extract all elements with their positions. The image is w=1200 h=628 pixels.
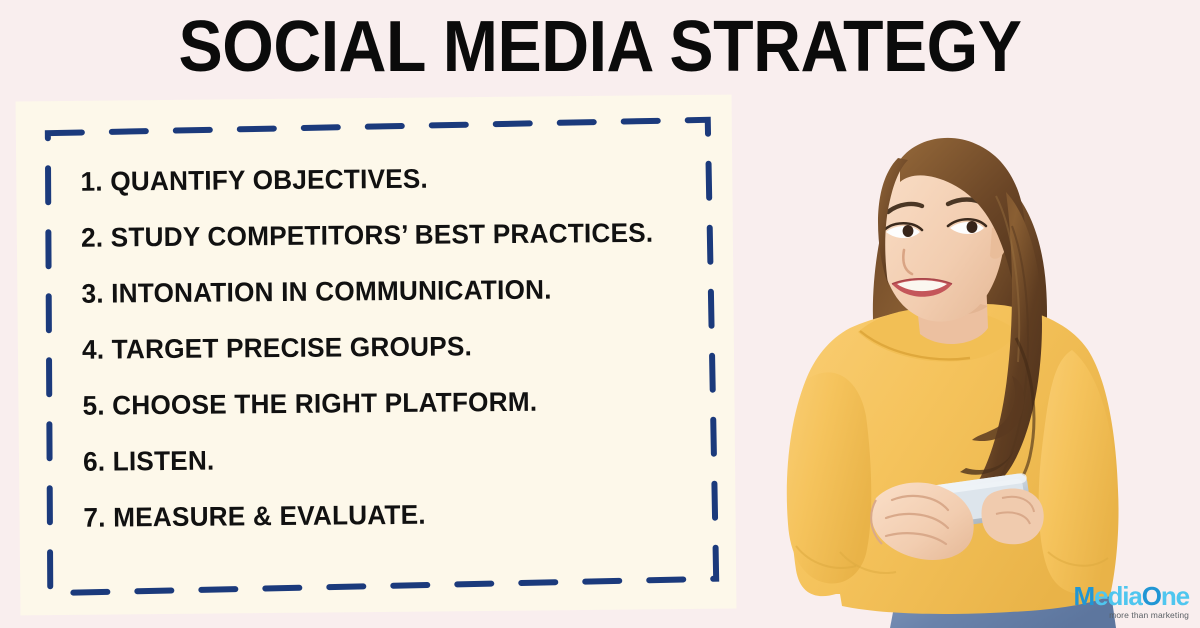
poster-canvas: SOCIAL MEDIA STRATEGY 1. QUANTIFY OBJECT… (0, 0, 1200, 628)
logo-wordmark: MediaOne (1067, 583, 1189, 609)
list-item: 6. LISTEN. (83, 443, 685, 475)
list-item: 3. INTONATION IN COMMUNICATION. (81, 275, 683, 307)
list-item: 7. MEASURE & EVALUATE. (83, 499, 685, 531)
list-item: 4. TARGET PRECISE GROUPS. (82, 331, 684, 363)
logo-tagline: more than marketing (1067, 610, 1189, 621)
list-item: 2. STUDY COMPETITORS’ BEST PRACTICES. (81, 219, 683, 251)
logo-part-edia: edia (1094, 581, 1142, 611)
list-item: 5. CHOOSE THE RIGHT PLATFORM. (82, 387, 684, 419)
page-title: SOCIAL MEDIA STRATEGY (48, 8, 1152, 86)
logo-part-m: M (1074, 581, 1095, 611)
logo-part-ne: ne (1161, 581, 1189, 611)
woman-with-phone-photo (780, 100, 1200, 628)
strategy-list: 1. QUANTIFY OBJECTIVES. 2. STUDY COMPETI… (80, 163, 703, 531)
list-item: 1. QUANTIFY OBJECTIVES. (80, 163, 682, 195)
mediaone-logo: MediaOne more than marketing (1067, 583, 1189, 623)
logo-part-o: O (1142, 581, 1161, 611)
